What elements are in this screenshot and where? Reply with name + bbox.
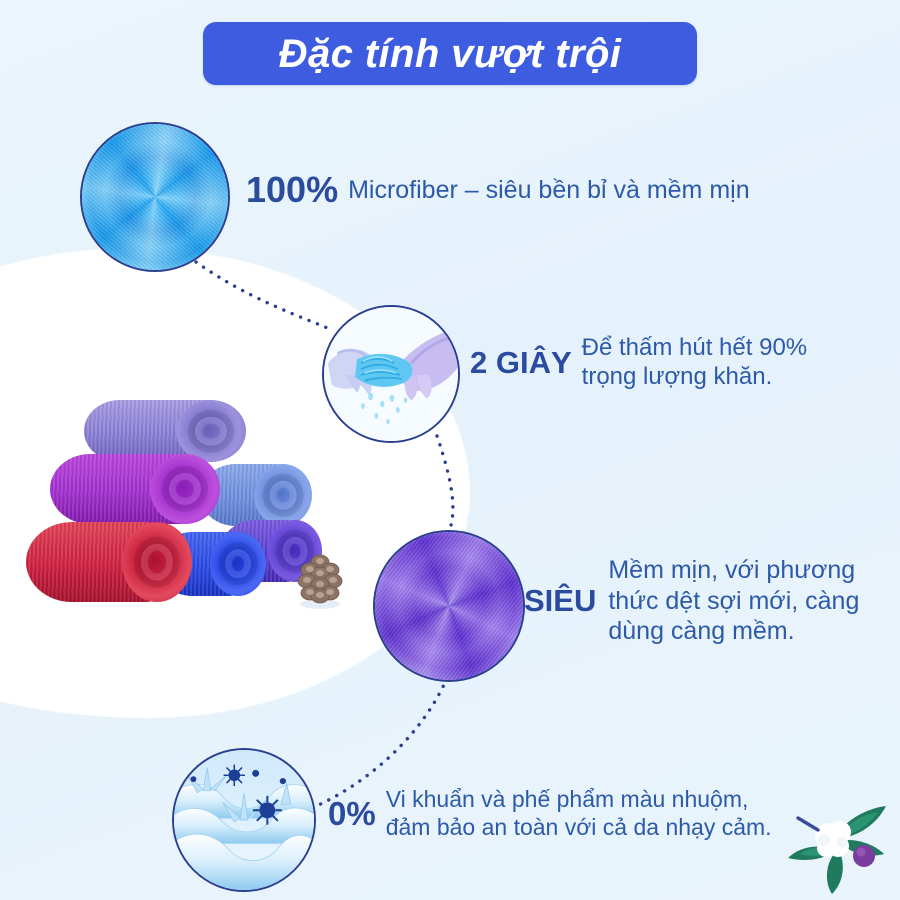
feature-desc-line: Vi khuẩn và phế phẩm màu nhuộm, — [386, 785, 772, 813]
feature-desc-line: đảm bảo an toàn với cả da nhạy cảm. — [386, 813, 772, 841]
feature-row-absorption: 2 GIÂY Để thấm hút hết 90% trọng lượng k… — [470, 333, 807, 392]
feature-icon-absorption — [322, 305, 460, 443]
towel-roll-red — [26, 522, 190, 602]
feature-desc-line: Mềm mịn, với phương — [608, 555, 859, 586]
feature-row-microfiber: 100% Microfiber – siêu bền bỉ và mềm mịn — [246, 172, 750, 208]
feature-desc-line: Để thấm hút hết 90% — [582, 333, 807, 362]
feature-desc-line: dùng càng mềm. — [608, 616, 859, 647]
cotton-boll-decor — [782, 790, 894, 894]
feature-lead-microfiber: 100% — [246, 172, 338, 208]
page-title: Đặc tính vượt trội — [279, 34, 622, 74]
feature-desc-line: trọng lượng khăn. — [582, 362, 807, 391]
feature-row-safety: 0% Vi khuẩn và phế phẩm màu nhuộm, đảm b… — [328, 785, 772, 841]
hands-wringing-towel-icon — [324, 307, 458, 441]
feature-lead-softness: SIÊU — [524, 585, 596, 616]
page-title-banner: Đặc tính vượt trội — [203, 22, 697, 85]
feature-icon-softness — [373, 530, 525, 682]
blue-microfiber-swirl-icon — [80, 122, 230, 272]
feature-desc-safety: Vi khuẩn và phế phẩm màu nhuộm, đảm bảo … — [386, 785, 772, 841]
fiber-bacteria-microscope-icon — [174, 750, 314, 890]
towel-roll-magenta — [50, 454, 218, 524]
poster-canvas: Đặc tính vượt trội — [0, 0, 900, 900]
purple-microfiber-swirl-icon — [373, 530, 525, 682]
towel-roll-lavender — [84, 400, 244, 462]
feature-lead-safety: 0% — [328, 797, 376, 830]
feature-icon-microfiber — [80, 122, 230, 272]
feature-desc-microfiber: Microfiber – siêu bền bỉ và mềm mịn — [348, 175, 750, 206]
feature-icon-safety — [172, 748, 316, 892]
feature-desc-line: thức dệt sợi mới, càng — [608, 586, 859, 617]
feature-row-softness: SIÊU Mềm mịn, với phương thức dệt sợi mớ… — [524, 555, 859, 647]
feature-lead-absorption: 2 GIÂY — [470, 347, 572, 378]
feature-desc-line: Microfiber – siêu bền bỉ và mềm mịn — [348, 176, 750, 204]
feature-desc-softness: Mềm mịn, với phương thức dệt sợi mới, cà… — [608, 555, 859, 647]
feature-desc-absorption: Để thấm hút hết 90% trọng lượng khăn. — [582, 333, 807, 392]
pine-cone-prop — [294, 548, 346, 610]
